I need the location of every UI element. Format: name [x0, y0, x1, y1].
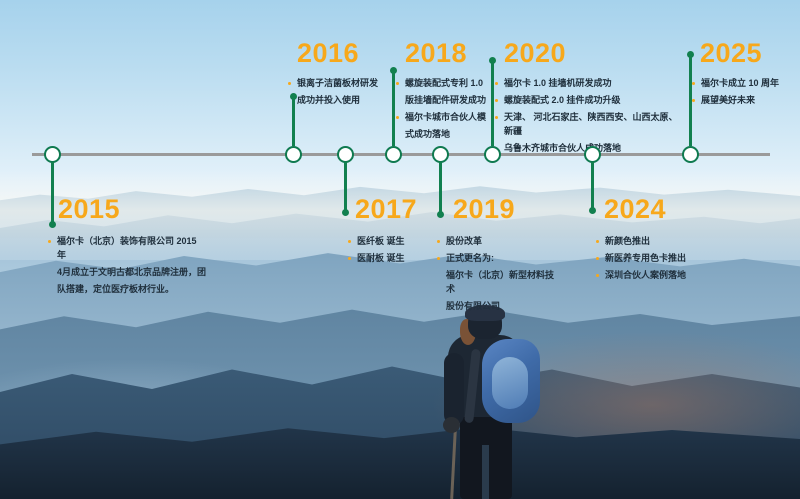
timeline-stem-dot-2025: [687, 51, 694, 58]
timeline-stem-2024: [591, 162, 594, 210]
timeline-item: 版挂墙配件研发成功: [396, 94, 496, 108]
hiker-hand: [443, 417, 460, 433]
timeline-item: 股份改革: [437, 235, 557, 249]
timeline-year-label-2019: 2019: [453, 196, 515, 223]
timeline-year-label-2015: 2015: [58, 196, 120, 223]
timeline-item: 螺旋装配式专利 1.0: [396, 77, 496, 91]
timeline-items-2025: 福尔卡成立 10 周年展望美好未来: [692, 77, 792, 111]
timeline-item: 4月成立于文明古都北京品牌注册，团: [48, 266, 208, 280]
timeline-node-2015[interactable]: [44, 146, 61, 163]
timeline-items-2019: 股份改革正式更名为:福尔卡（北京）新型材料技术股份有限公司: [437, 235, 557, 317]
timeline-item: 天津、 河北石家庄、陕西西安、山西太原、新疆: [495, 111, 685, 139]
timeline-item: 银离子洁菌板材研发: [288, 77, 383, 91]
timeline-node-2018[interactable]: [385, 146, 402, 163]
timeline-item: 医耐板 诞生: [348, 252, 438, 266]
timeline-node-2017[interactable]: [337, 146, 354, 163]
timeline-stem-dot-2019: [437, 211, 444, 218]
timeline-stem-2020: [491, 60, 494, 146]
timeline-items-2016: 银离子洁菌板材研发成功并投入使用: [288, 77, 383, 111]
timeline-item: 成功并投入使用: [288, 94, 383, 108]
timeline-stem-2019: [439, 162, 442, 214]
timeline-item: 展望美好未来: [692, 94, 792, 108]
timeline-items-2018: 螺旋装配式专利 1.0版挂墙配件研发成功福尔卡城市合伙人模式成功落地: [396, 77, 496, 145]
timeline-items-2017: 医纤板 诞生医耐板 诞生: [348, 235, 438, 269]
hiker-leg-gap: [482, 445, 489, 499]
timeline-year-label-2020: 2020: [504, 40, 566, 67]
timeline-item: 福尔卡（北京）新型材料技术: [437, 269, 557, 297]
timeline-item: 正式更名为:: [437, 252, 557, 266]
timeline-item: 式成功落地: [396, 128, 496, 142]
timeline-year-label-2017: 2017: [355, 196, 417, 223]
timeline-stem-dot-2020: [489, 57, 496, 64]
timeline-stem-dot-2015: [49, 221, 56, 228]
timeline-item: 福尔卡（北京）装饰有限公司 2015 年: [48, 235, 208, 263]
timeline-items-2024: 新颜色推出新医养专用色卡推出深圳合伙人案例落地: [596, 235, 726, 286]
timeline-year-label-2025: 2025: [700, 40, 762, 67]
timeline-item: 新医养专用色卡推出: [596, 252, 726, 266]
timeline-item: 新颜色推出: [596, 235, 726, 249]
timeline-item: 福尔卡成立 10 周年: [692, 77, 792, 91]
timeline-stem-2018: [392, 70, 395, 146]
timeline-year-label-2024: 2024: [604, 196, 666, 223]
timeline-node-2019[interactable]: [432, 146, 449, 163]
timeline-node-2025[interactable]: [682, 146, 699, 163]
hiker-figure: [420, 305, 570, 499]
timeline-item: 深圳合伙人案例落地: [596, 269, 726, 283]
timeline-item: 福尔卡 1.0 挂墙机研发成功: [495, 77, 685, 91]
hiking-pole: [450, 429, 457, 499]
timeline-infographic: 2015福尔卡（北京）装饰有限公司 2015 年4月成立于文明古都北京品牌注册，…: [0, 0, 800, 499]
timeline-stem-2015: [51, 162, 54, 224]
timeline-year-label-2016: 2016: [297, 40, 359, 67]
timeline-node-2024[interactable]: [584, 146, 601, 163]
timeline-stem-2017: [344, 162, 347, 212]
timeline-item: 福尔卡城市合伙人模: [396, 111, 496, 125]
backpack-front-panel: [492, 357, 528, 409]
timeline-item: 螺旋装配式 2.0 挂件成功升级: [495, 94, 685, 108]
timeline-stem-dot-2018: [390, 67, 397, 74]
timeline-year-label-2018: 2018: [405, 40, 467, 67]
timeline-items-2015: 福尔卡（北京）装饰有限公司 2015 年4月成立于文明古都北京品牌注册，团队搭建…: [48, 235, 208, 300]
hiker-arm: [444, 353, 464, 425]
timeline-node-2016[interactable]: [285, 146, 302, 163]
timeline-stem-dot-2024: [589, 207, 596, 214]
timeline-item: 队搭建，定位医疗板材行业。: [48, 283, 208, 297]
timeline-item: 股份有限公司: [437, 300, 557, 314]
timeline-stem-dot-2017: [342, 209, 349, 216]
timeline-item: 医纤板 诞生: [348, 235, 438, 249]
